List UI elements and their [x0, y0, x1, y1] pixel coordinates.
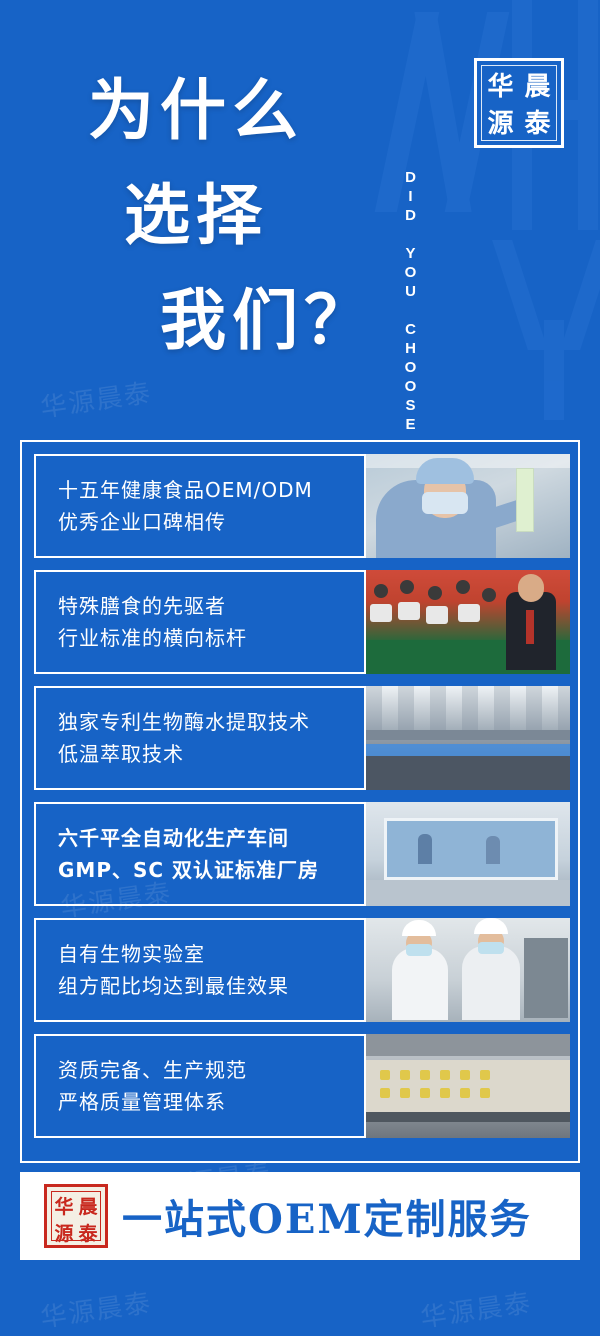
seal-char: 泰	[78, 1219, 97, 1246]
seal-char: 华	[54, 1192, 73, 1219]
lab-technician-photo	[366, 454, 570, 558]
watermark-text: 华源晨泰	[418, 1282, 534, 1334]
reason-text: 资质完备、生产规范 严格质量管理体系	[34, 1034, 366, 1138]
reason-row: 十五年健康食品OEM/ODM 优秀企业口碑相传	[34, 454, 570, 558]
vertical-english-char: U	[398, 282, 424, 301]
vertical-english-char: O	[398, 377, 424, 396]
reason-row: 资质完备、生产规范 严格质量管理体系	[34, 1034, 570, 1138]
vertical-english-char: D	[398, 168, 424, 187]
reason-line-1: 自有生物实验室	[58, 938, 364, 970]
vertical-english-char: S	[398, 396, 424, 415]
reason-row: 自有生物实验室 组方配比均达到最佳效果	[34, 918, 570, 1022]
reason-text: 特殊膳食的先驱者 行业标准的横向标杆	[34, 570, 366, 674]
headline-line-3: 我们？	[88, 268, 376, 373]
vertical-english-char: O	[398, 358, 424, 377]
vertical-english-char: Y	[398, 244, 424, 263]
reason-line-1: 十五年健康食品OEM/ODM	[58, 474, 364, 506]
reasons-panel: 十五年健康食品OEM/ODM 优秀企业口碑相传 特殊膳食的先驱者 行业标准的横向…	[20, 440, 580, 1163]
bottom-seal-logo: 华 晨 源 泰	[44, 1184, 108, 1248]
reason-row: 特殊膳食的先驱者 行业标准的横向标杆	[34, 570, 570, 674]
seal-char: 晨	[78, 1192, 97, 1219]
watermark-text: 华源晨泰	[38, 1282, 154, 1334]
vertical-english-char: C	[398, 320, 424, 339]
reason-line-1: 特殊膳食的先驱者	[58, 590, 364, 622]
reason-row: 独家专利生物酶水提取技术 低温萃取技术	[34, 686, 570, 790]
reason-line-2: 严格质量管理体系	[58, 1086, 364, 1118]
reason-line-1: 资质完备、生产规范	[58, 1054, 364, 1086]
seal-char: 华	[487, 66, 513, 103]
headline-line-2: 选择	[88, 163, 376, 268]
reason-text: 自有生物实验室 组方配比均达到最佳效果	[34, 918, 366, 1022]
watermark-text: 华源晨泰	[38, 372, 154, 424]
brand-seal-logo: 华 晨 源 泰	[474, 58, 564, 148]
vertical-english-char	[398, 225, 424, 244]
reason-line-2: GMP、SC 双认证标准厂房	[58, 854, 364, 886]
poster-root: 华源晨泰 华源晨泰 华源晨泰 华源晨泰 华源晨泰 华源晨泰 华 晨 源 泰 为什…	[0, 0, 600, 1336]
blister-packaging-photo	[366, 1034, 570, 1138]
lab-workers-photo	[366, 918, 570, 1022]
seal-char: 源	[487, 103, 513, 140]
conference-audience-photo	[366, 570, 570, 674]
reason-line-1: 六千平全自动化生产车间	[58, 822, 364, 854]
clean-room-photo	[366, 802, 570, 906]
vertical-english-char: D	[398, 206, 424, 225]
reason-row: 六千平全自动化生产车间 GMP、SC 双认证标准厂房	[34, 802, 570, 906]
filling-line-photo	[366, 686, 570, 790]
bottom-slogan-text: 一站式OEM定制服务	[122, 1187, 532, 1245]
vertical-english-char: O	[398, 263, 424, 282]
vertical-english-char	[398, 301, 424, 320]
reason-line-2: 优秀企业口碑相传	[58, 506, 364, 538]
seal-char: 泰	[524, 103, 550, 140]
reason-line-2: 低温萃取技术	[58, 738, 364, 770]
seal-char: 源	[54, 1219, 73, 1246]
vertical-english-char: E	[398, 415, 424, 434]
vertical-english-char: H	[398, 339, 424, 358]
reason-line-2: 行业标准的横向标杆	[58, 622, 364, 654]
seal-char: 晨	[524, 66, 550, 103]
bottom-slogan-bar: 华 晨 源 泰 一站式OEM定制服务	[20, 1172, 580, 1260]
reason-text: 十五年健康食品OEM/ODM 优秀企业口碑相传	[34, 454, 366, 558]
reason-text: 独家专利生物酶水提取技术 低温萃取技术	[34, 686, 366, 790]
reason-line-2: 组方配比均达到最佳效果	[58, 970, 364, 1002]
reason-text: 六千平全自动化生产车间 GMP、SC 双认证标准厂房	[34, 802, 366, 906]
reason-line-1: 独家专利生物酶水提取技术	[58, 706, 364, 738]
headline-line-1: 为什么	[88, 58, 376, 163]
vertical-english-char: I	[398, 187, 424, 206]
headline: 为什么 选择 我们？	[88, 58, 376, 373]
